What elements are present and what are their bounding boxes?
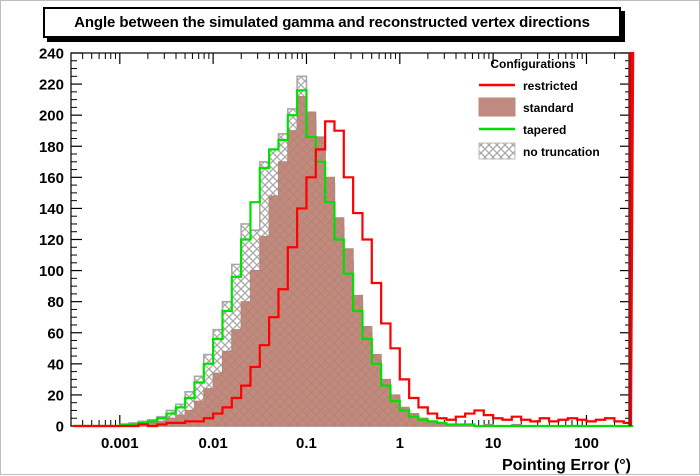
- y-tick-label: 100: [39, 263, 64, 280]
- y-tick-label: 20: [47, 387, 64, 404]
- x-tick-label: 0.1: [296, 435, 317, 452]
- y-tick-label: 80: [47, 294, 64, 311]
- y-tick-label: 120: [39, 232, 64, 249]
- y-tick-label: 220: [39, 77, 64, 94]
- y-tick-label: 60: [47, 325, 64, 342]
- y-tick-label: 240: [39, 46, 64, 63]
- legend-swatch-fill: [479, 98, 515, 116]
- legend-entry-no-truncation[interactable]: no truncation: [479, 143, 600, 159]
- legend-label: no truncation: [523, 145, 600, 159]
- y-tick-label: 140: [39, 201, 64, 218]
- legend-entry-restricted[interactable]: restricted: [479, 79, 578, 93]
- legend-swatch-hatch: [479, 143, 515, 159]
- legend-label: tapered: [523, 123, 566, 137]
- y-tick-label: 160: [39, 170, 64, 187]
- legend-entry-standard[interactable]: standard: [479, 98, 574, 116]
- x-tick-label: 1: [396, 435, 404, 452]
- x-tick-label: 10: [485, 435, 502, 452]
- root-canvas: Angle between the simulated gamma and re…: [0, 0, 700, 475]
- x-tick-label: 100: [574, 435, 599, 452]
- y-tick-label: 0: [56, 419, 64, 436]
- legend-label: restricted: [523, 79, 578, 93]
- y-tick-label: 40: [47, 356, 64, 373]
- legend-header: Configurations: [490, 57, 576, 71]
- x-axis-title: Pointing Error (°): [502, 457, 631, 474]
- legend-entry-tapered[interactable]: tapered: [479, 123, 566, 137]
- x-tick-label: 0.01: [199, 435, 228, 452]
- y-tick-label: 180: [39, 139, 64, 156]
- legend-label: standard: [523, 101, 574, 115]
- y-tick-label: 200: [39, 108, 64, 125]
- histogram-plot: 0204060801001201401601802002202400.0010.…: [1, 1, 700, 476]
- x-tick-label: 0.001: [101, 435, 139, 452]
